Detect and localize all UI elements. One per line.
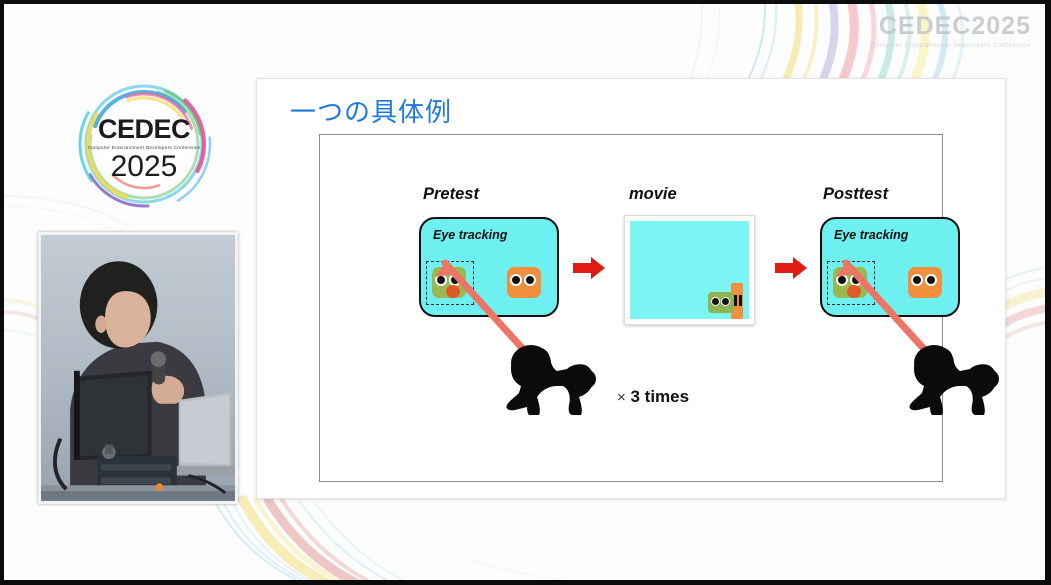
screen-stage: CEDEC2025 Computer Entertainment Develop… bbox=[0, 0, 1051, 585]
speaker-video-feed bbox=[38, 232, 238, 504]
screen-edge-left bbox=[0, 0, 4, 585]
toy-eye-right bbox=[739, 295, 742, 306]
screen-edge-top bbox=[0, 0, 1051, 4]
green-toy-mini-icon bbox=[708, 292, 734, 313]
red-right-arrow-icon bbox=[775, 257, 807, 279]
brand-wordmark-main: CEDEC2025 bbox=[870, 14, 1031, 39]
movie-screen-content bbox=[630, 221, 749, 319]
red-right-arrow-icon bbox=[573, 257, 605, 279]
crawling-baby-silhouette-icon bbox=[505, 341, 597, 417]
cedec-logo-main: CEDEC bbox=[76, 116, 212, 143]
eye-tracking-label-posttest: Eye tracking bbox=[834, 228, 908, 242]
repeat-count-value: 3 times bbox=[631, 387, 690, 406]
toy-eye-left bbox=[711, 297, 720, 306]
toy-eye-left bbox=[734, 295, 737, 306]
brand-wordmark-cedec: CEDEC bbox=[879, 12, 972, 40]
cedec-logo-year: 2025 bbox=[76, 152, 212, 182]
presentation-slide: 一つの具体例 Pretest movie Posttest Eye tracki… bbox=[256, 78, 1006, 499]
slide-title: 一つの具体例 bbox=[290, 92, 452, 129]
cedec-logo: CEDEC Computer Entertainment Developers … bbox=[76, 78, 212, 210]
repeat-count-label: × 3 times bbox=[617, 387, 689, 407]
eye-tracking-label-pretest: Eye tracking bbox=[433, 228, 507, 242]
brand-wordmark-sub: Computer Entertainment Developers Confer… bbox=[870, 42, 1031, 49]
column-label-posttest: Posttest bbox=[823, 185, 888, 204]
brand-wordmark-year: 2025 bbox=[971, 12, 1031, 40]
movie-screen bbox=[624, 215, 755, 325]
cedec-logo-text: CEDEC Computer Entertainment Developers … bbox=[76, 116, 212, 182]
screen-edge-right bbox=[1045, 0, 1051, 585]
speaker-video-image bbox=[41, 235, 235, 499]
crawling-baby-silhouette-icon bbox=[908, 341, 1000, 417]
screen-edge-bottom bbox=[0, 580, 1051, 585]
toy-eye-right bbox=[721, 297, 730, 306]
column-label-pretest: Pretest bbox=[423, 185, 479, 204]
column-label-movie: movie bbox=[629, 185, 677, 204]
multiply-symbol: × bbox=[617, 389, 626, 406]
brand-wordmark-topright: CEDEC2025 Computer Entertainment Develop… bbox=[870, 14, 1031, 49]
slide-diagram-frame: Pretest movie Posttest Eye tracking bbox=[319, 134, 943, 482]
